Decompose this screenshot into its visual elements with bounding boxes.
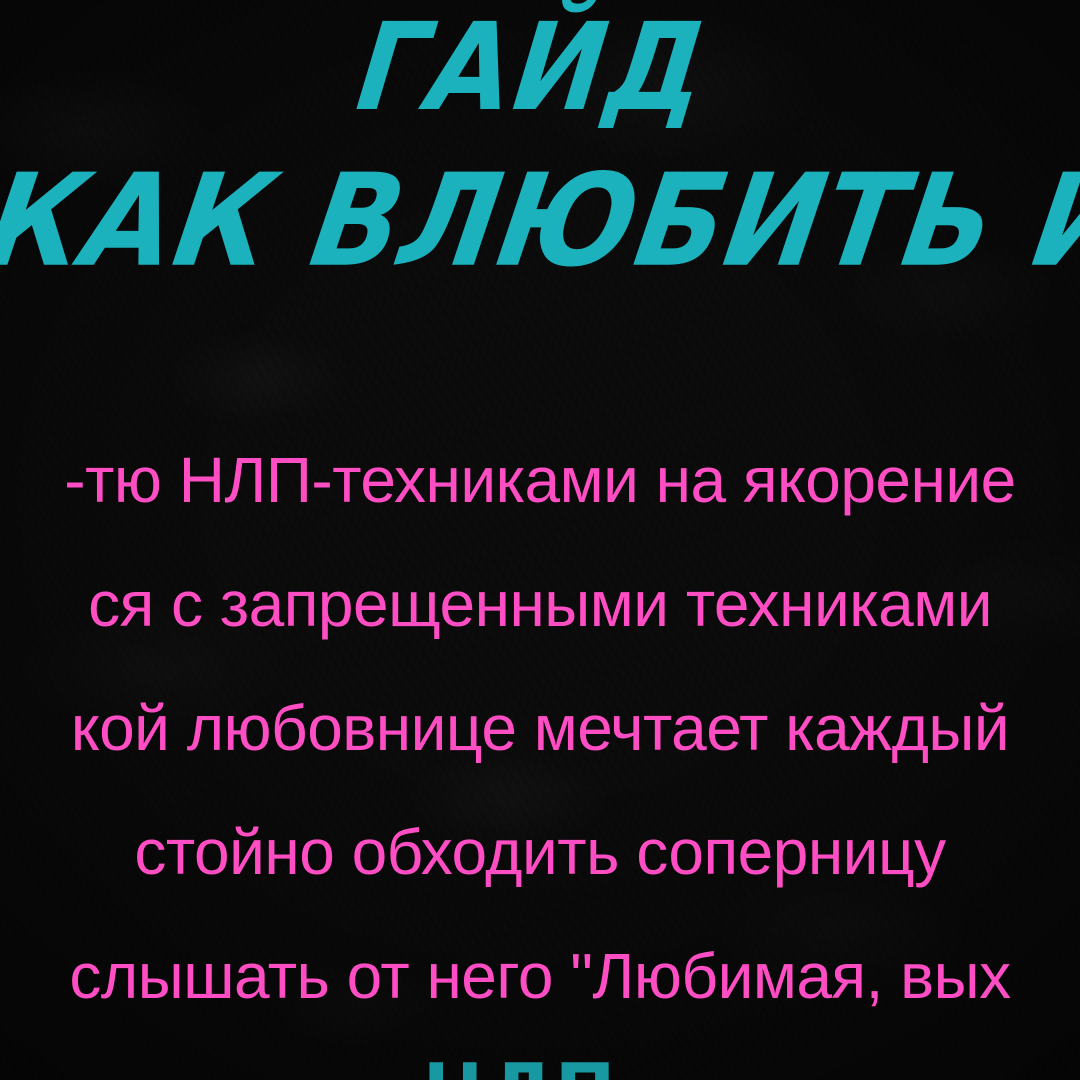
page-title: ГАЙД — [0, 8, 1080, 129]
heading-block: ГАЙД КАК ВЛЮБИТЬ И УД — [0, 0, 1080, 274]
body-line: стойно обходить соперницу — [0, 790, 1080, 914]
body-line: слышать от него "Любимая, вых — [0, 914, 1080, 1038]
body-line: -тю НЛП-техниками на якорение — [0, 418, 1080, 542]
page-subtitle: КАК ВЛЮБИТЬ И УД — [0, 158, 1080, 286]
poster-canvas: ГАЙД КАК ВЛЮБИТЬ И УД -тю НЛП-техниками … — [0, 0, 1080, 1080]
footer-clipped-text: НЛП- — [0, 1048, 1080, 1080]
body-line: ся с запрещенными техниками — [0, 542, 1080, 666]
body-line: кой любовнице мечтает каждый — [0, 666, 1080, 790]
body-text-block: -тю НЛП-техниками на якорение ся с запре… — [0, 418, 1080, 1038]
